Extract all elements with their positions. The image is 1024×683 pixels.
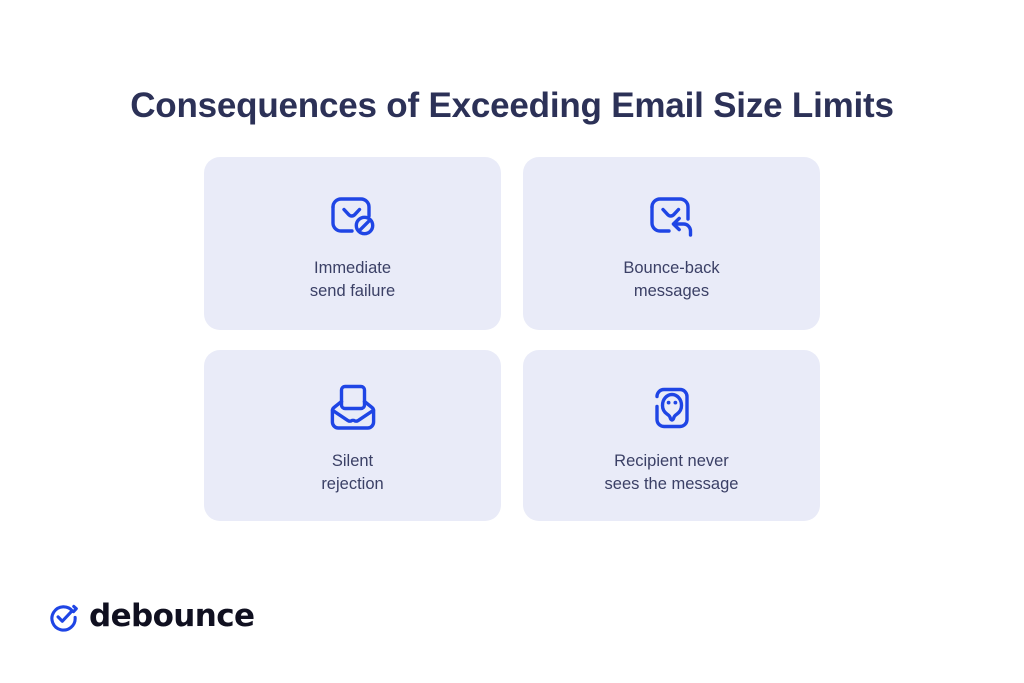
envelope-blocked-icon	[325, 187, 381, 243]
infographic-canvas: Consequences of Exceeding Email Size Lim…	[0, 0, 1024, 683]
message-unseen-face-icon	[644, 380, 700, 436]
card-silent-rejection: Silent rejection	[204, 350, 501, 521]
debounce-logo: debounce	[48, 601, 254, 632]
card-label: Silent rejection	[321, 450, 383, 497]
card-recipient-never-sees-message: Recipient never sees the message	[523, 350, 820, 521]
debounce-check-circle-icon	[48, 601, 79, 632]
card-label: Bounce-back messages	[623, 257, 719, 304]
open-envelope-letter-icon	[325, 380, 381, 436]
card-immediate-send-failure: Immediate send failure	[204, 157, 501, 330]
card-label: Immediate send failure	[310, 257, 395, 304]
envelope-reply-icon	[644, 187, 700, 243]
page-title: Consequences of Exceeding Email Size Lim…	[0, 85, 1024, 127]
card-bounce-back-messages: Bounce-back messages	[523, 157, 820, 330]
card-label: Recipient never sees the message	[605, 450, 739, 497]
consequences-card-grid: Immediate send failure Bounce-back messa…	[204, 157, 820, 521]
debounce-wordmark: debounce	[89, 601, 254, 632]
